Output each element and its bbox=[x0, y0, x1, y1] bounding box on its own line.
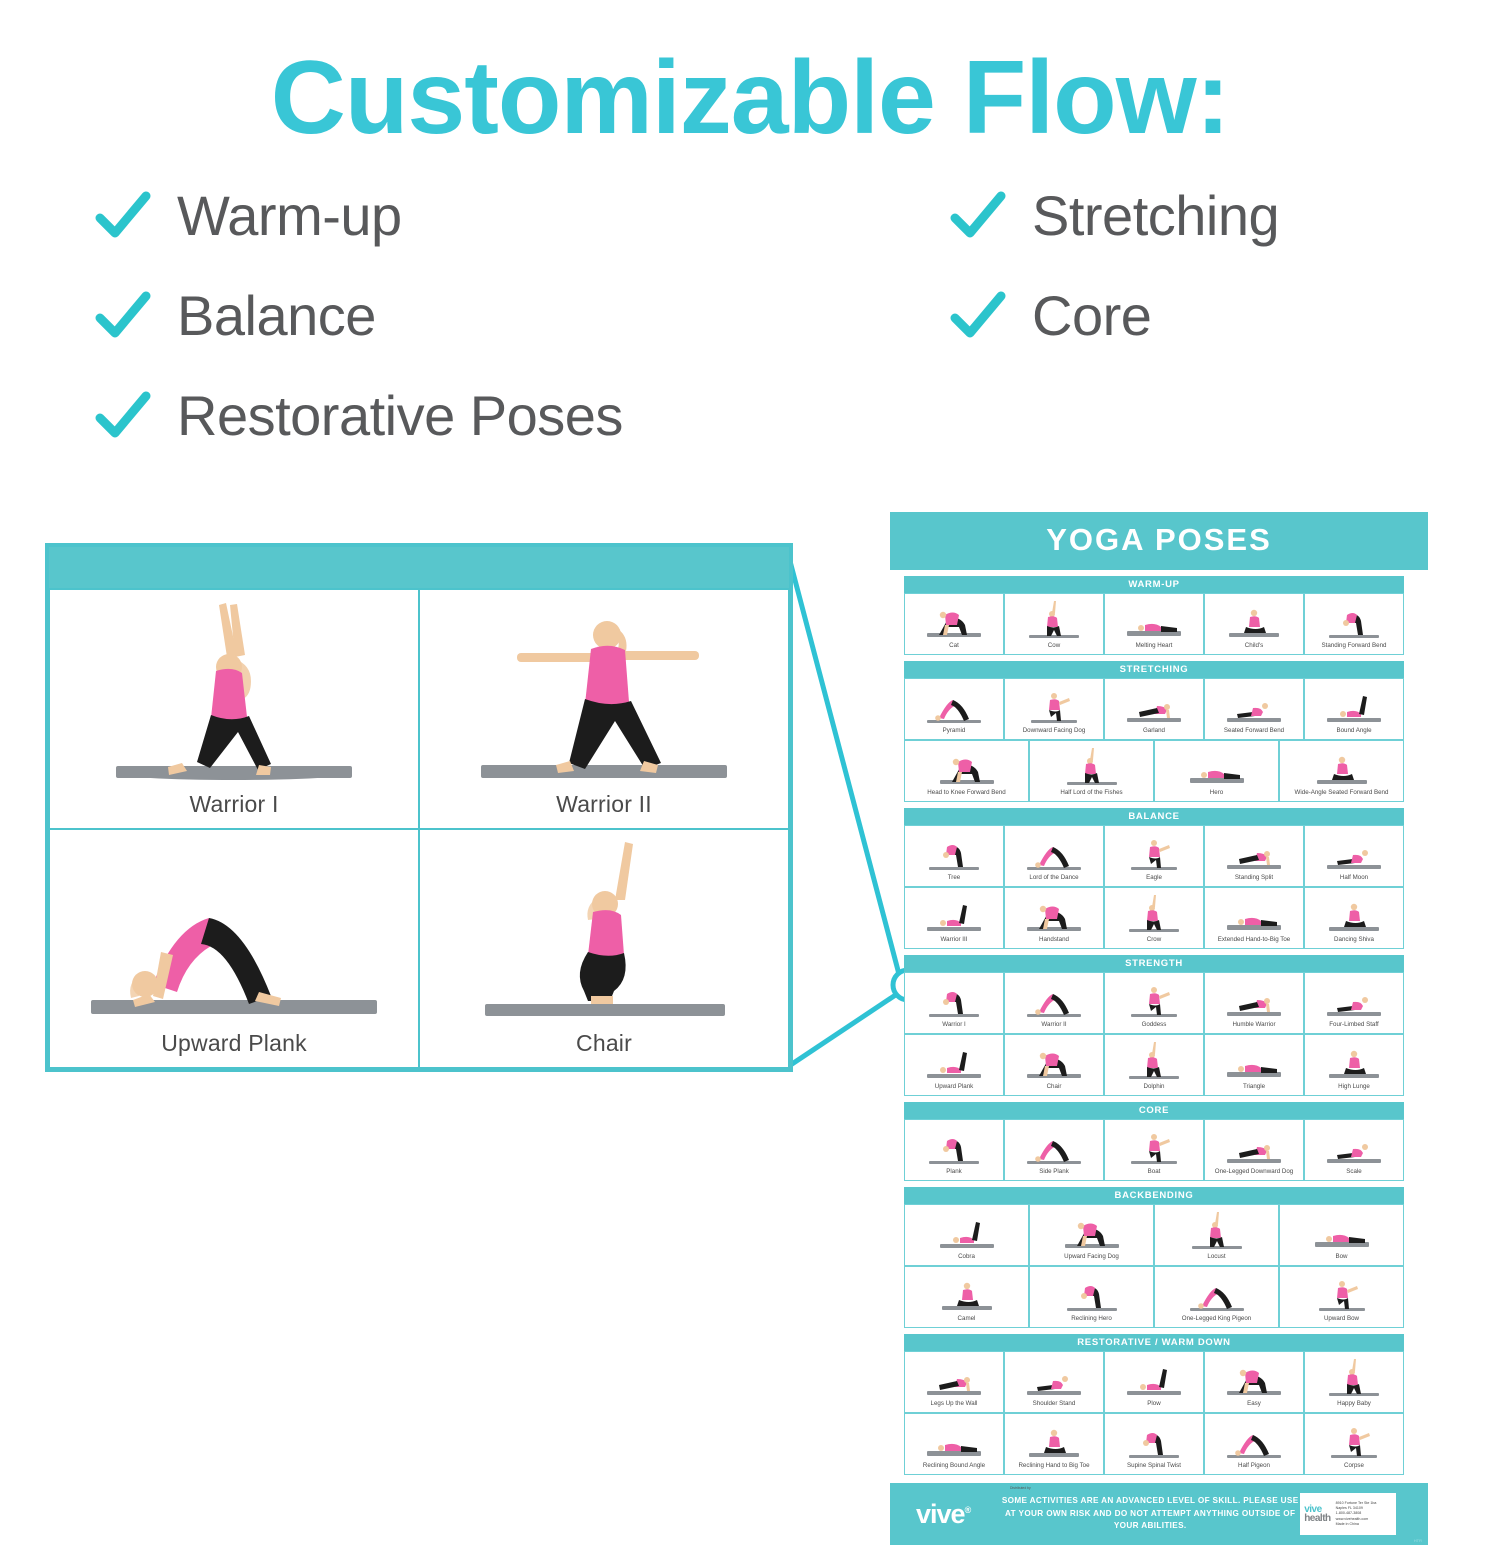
section-header: STRENGTH bbox=[904, 955, 1404, 972]
section-header: BALANCE bbox=[904, 808, 1404, 825]
pose-cell[interactable]: Half Moon bbox=[1304, 825, 1404, 887]
pose-cell[interactable]: Child's bbox=[1204, 593, 1304, 655]
pose-name: Side Plank bbox=[1038, 1168, 1070, 1178]
pose-cell[interactable]: High Lunge bbox=[1304, 1034, 1404, 1096]
pose-row: CatCowMelting HeartChild'sStanding Forwa… bbox=[904, 593, 1404, 655]
pose-cell[interactable]: Plow bbox=[1104, 1351, 1204, 1413]
pose-name: Eagle bbox=[1145, 874, 1163, 884]
feature-list-right: Stretching Core bbox=[950, 185, 1470, 385]
pose-cell[interactable]: Shoulder Stand bbox=[1004, 1351, 1104, 1413]
registered-mark: ® bbox=[965, 1505, 971, 1515]
pose-cell[interactable]: Scale bbox=[1304, 1119, 1404, 1181]
pose-cell[interactable]: Pyramid bbox=[904, 678, 1004, 740]
pose-thumbnail bbox=[905, 679, 1003, 727]
poster-footer: vive® SOME ACTIVITIES ARE AN ADVANCED LE… bbox=[890, 1483, 1428, 1545]
pose-cell[interactable]: Garland bbox=[1104, 678, 1204, 740]
pose-cell[interactable]: Humble Warrior bbox=[1204, 972, 1304, 1034]
footer-code: HTR bbox=[1414, 1538, 1422, 1543]
poster-section: WARM-UPCatCowMelting HeartChild'sStandin… bbox=[890, 576, 1428, 655]
pose-thumbnail bbox=[1005, 1352, 1103, 1400]
pose-cell[interactable]: Cobra bbox=[904, 1204, 1029, 1266]
pose-name: Upward Bow bbox=[1323, 1315, 1360, 1325]
pose-cell[interactable]: Upward Facing Dog bbox=[1029, 1204, 1154, 1266]
page-title: Customizable Flow: bbox=[0, 44, 1500, 153]
section-header: CORE bbox=[904, 1102, 1404, 1119]
pose-thumbnail bbox=[1305, 1035, 1403, 1083]
pose-thumbnail bbox=[1105, 973, 1203, 1021]
callout-pose-warrior-1[interactable]: Warrior I bbox=[48, 588, 420, 830]
pose-figure-warrior-ii bbox=[420, 590, 788, 785]
pose-cell[interactable]: Cow bbox=[1004, 593, 1104, 655]
pose-thumbnail bbox=[1105, 1120, 1203, 1168]
section-rows: CobraUpward Facing DogLocustBowCamelRecl… bbox=[904, 1204, 1404, 1328]
pose-row: TreeLord of the DanceEagleStanding Split… bbox=[904, 825, 1404, 887]
pose-row: Reclining Bound AngleReclining Hand to B… bbox=[904, 1413, 1404, 1475]
pose-thumbnail bbox=[1005, 1414, 1103, 1462]
pose-cell[interactable]: Warrior II bbox=[1004, 972, 1104, 1034]
pose-name: One-Legged King Pigeon bbox=[1181, 1315, 1253, 1325]
pose-thumbnail bbox=[905, 1035, 1003, 1083]
pose-cell[interactable]: Lord of the Dance bbox=[1004, 825, 1104, 887]
feature-item-balance: Balance bbox=[95, 285, 895, 347]
pose-thumbnail bbox=[1305, 1352, 1403, 1400]
pose-row: Warrior IWarrior IIGoddessHumble Warrior… bbox=[904, 972, 1404, 1034]
check-icon bbox=[950, 288, 1006, 344]
pose-thumbnail bbox=[905, 1120, 1003, 1168]
section-header: STRETCHING bbox=[904, 661, 1404, 678]
label-brand-line2: health bbox=[1304, 1514, 1330, 1524]
pose-cell[interactable]: Reclining Hand to Big Toe bbox=[1004, 1413, 1104, 1475]
pose-cell[interactable]: Upward Bow bbox=[1279, 1266, 1404, 1328]
pose-cell[interactable]: Plank bbox=[904, 1119, 1004, 1181]
pose-cell[interactable]: Upward Plank bbox=[904, 1034, 1004, 1096]
pose-name: Crow bbox=[1146, 936, 1162, 946]
pose-name: Plank bbox=[945, 1168, 962, 1178]
poster-section: BALANCETreeLord of the DanceEagleStandin… bbox=[890, 808, 1428, 949]
pose-thumbnail bbox=[1105, 826, 1203, 874]
vive-health-logo: vive health bbox=[1304, 1505, 1330, 1524]
pose-name: Upward Facing Dog bbox=[1063, 1253, 1120, 1263]
pose-thumbnail bbox=[1005, 679, 1103, 727]
pose-thumbnail bbox=[1205, 1120, 1303, 1168]
pose-cell[interactable]: Tree bbox=[904, 825, 1004, 887]
pose-name: Warrior I bbox=[189, 791, 278, 818]
pose-thumbnail bbox=[1105, 594, 1203, 642]
pose-thumbnail bbox=[1305, 1120, 1403, 1168]
pose-thumbnail bbox=[1005, 594, 1103, 642]
poster-title: YOGA POSES bbox=[890, 512, 1428, 570]
pose-thumbnail bbox=[905, 1352, 1003, 1400]
pose-name: Upward Plank bbox=[934, 1083, 975, 1093]
pose-name: Four-Limbed Staff bbox=[1328, 1021, 1379, 1031]
pose-name: Half Moon bbox=[1339, 874, 1369, 884]
pose-cell[interactable]: Extended Hand-to-Big Toe bbox=[1204, 887, 1304, 949]
check-icon bbox=[950, 188, 1006, 244]
pose-cell[interactable]: Head to Knee Forward Bend bbox=[904, 740, 1029, 802]
pose-thumbnail bbox=[1155, 1267, 1278, 1315]
pose-cell[interactable]: Goddess bbox=[1104, 972, 1204, 1034]
pose-name: Tree bbox=[947, 874, 962, 884]
callout-pose-upward-plank[interactable]: Upward Plank bbox=[48, 828, 420, 1070]
yoga-poses-poster: YOGA POSES WARM-UPCatCowMelting HeartChi… bbox=[890, 512, 1428, 1545]
vive-wordmark: vive bbox=[916, 1499, 965, 1529]
poster-section: BACKBENDINGCobraUpward Facing DogLocustB… bbox=[890, 1187, 1428, 1328]
pose-cell[interactable]: Warrior I bbox=[904, 972, 1004, 1034]
pose-name: Warrior II bbox=[1040, 1021, 1067, 1031]
pose-row: PyramidDownward Facing DogGarlandSeated … bbox=[904, 678, 1404, 740]
pose-thumbnail bbox=[1305, 679, 1403, 727]
pose-thumbnail bbox=[905, 1414, 1003, 1462]
pose-name: Warrior III bbox=[940, 936, 969, 946]
pose-name: Legs Up the Wall bbox=[930, 1400, 979, 1410]
pose-name: Head to Knee Forward Bend bbox=[926, 789, 1006, 799]
pose-cell[interactable]: Half Lord of the Fishes bbox=[1029, 740, 1154, 802]
pose-name: Half Pigeon bbox=[1237, 1462, 1271, 1472]
section-rows: Legs Up the WallShoulder StandPlowEasyHa… bbox=[904, 1351, 1404, 1475]
pose-name: Scale bbox=[1345, 1168, 1362, 1178]
footer-disclaimer: SOME ACTIVITIES ARE AN ADVANCED LEVEL OF… bbox=[1000, 1495, 1300, 1533]
pose-thumbnail bbox=[1155, 741, 1278, 789]
pose-thumbnail bbox=[1205, 888, 1303, 936]
pose-name: Child's bbox=[1244, 642, 1264, 652]
pose-name: Supine Spinal Twist bbox=[1126, 1462, 1182, 1472]
pose-cell[interactable]: Triangle bbox=[1204, 1034, 1304, 1096]
check-icon bbox=[95, 188, 151, 244]
feature-label: Warm-up bbox=[177, 188, 402, 244]
pose-thumbnail bbox=[1305, 826, 1403, 874]
pose-thumbnail bbox=[905, 594, 1003, 642]
section-rows: PyramidDownward Facing DogGarlandSeated … bbox=[904, 678, 1404, 802]
pose-name: Corpse bbox=[1343, 1462, 1365, 1472]
poster-section: STRETCHINGPyramidDownward Facing DogGarl… bbox=[890, 661, 1428, 802]
pose-cell[interactable]: Wide-Angle Seated Forward Bend bbox=[1279, 740, 1404, 802]
pose-name: Bound Angle bbox=[1335, 727, 1372, 737]
pose-cell[interactable]: Half Pigeon bbox=[1204, 1413, 1304, 1475]
pose-cell[interactable]: Side Plank bbox=[1004, 1119, 1104, 1181]
pose-thumbnail bbox=[1305, 973, 1403, 1021]
pose-cell[interactable]: Melting Heart bbox=[1104, 593, 1204, 655]
pose-thumbnail bbox=[905, 741, 1028, 789]
pose-name: Hero bbox=[1209, 789, 1224, 799]
pose-name: Pyramid bbox=[942, 727, 967, 737]
pose-name: Handstand bbox=[1038, 936, 1070, 946]
feature-item-restorative-poses: Restorative Poses bbox=[95, 385, 895, 447]
label-address-line: Made in China bbox=[1336, 1522, 1393, 1527]
pose-name: Downward Facing Dog bbox=[1022, 727, 1087, 737]
pose-name: Humble Warrior bbox=[1231, 1021, 1276, 1031]
pose-cell[interactable]: One-Legged King Pigeon bbox=[1154, 1266, 1279, 1328]
feature-item-core: Core bbox=[950, 285, 1470, 347]
pose-thumbnail bbox=[1305, 594, 1403, 642]
feature-label: Stretching bbox=[1032, 188, 1279, 244]
pose-thumbnail bbox=[1005, 1120, 1103, 1168]
pose-thumbnail bbox=[1030, 1205, 1153, 1253]
pose-name: Locust bbox=[1206, 1253, 1226, 1263]
section-rows: CatCowMelting HeartChild'sStanding Forwa… bbox=[904, 593, 1404, 655]
pose-row: Warrior IIIHandstandCrowExtended Hand-to… bbox=[904, 887, 1404, 949]
pose-cell[interactable]: Locust bbox=[1154, 1204, 1279, 1266]
pose-name: High Lunge bbox=[1337, 1083, 1371, 1093]
pose-thumbnail bbox=[1280, 741, 1403, 789]
pose-row: PlankSide PlankBoatOne-Legged Downward D… bbox=[904, 1119, 1404, 1181]
pose-cell[interactable]: Dancing Shiva bbox=[1304, 887, 1404, 949]
poster-section: RESTORATIVE / WARM DOWNLegs Up the WallS… bbox=[890, 1334, 1428, 1475]
pose-cell[interactable]: Bound Angle bbox=[1304, 678, 1404, 740]
section-header: BACKBENDING bbox=[904, 1187, 1404, 1204]
pose-name: Camel bbox=[957, 1315, 977, 1325]
pose-row: Upward PlankChairDolphinTriangleHigh Lun… bbox=[904, 1034, 1404, 1096]
pose-name: Plow bbox=[1146, 1400, 1161, 1410]
callout-pose-warrior-2[interactable]: Warrior II bbox=[418, 588, 790, 830]
pose-cell[interactable]: Corpse bbox=[1304, 1413, 1404, 1475]
label-address-block: 8910 Fortune Ter Ste 1baNaples FL 341091… bbox=[1336, 1501, 1393, 1528]
pose-thumbnail bbox=[1280, 1267, 1403, 1315]
distributed-by-text: Distributed by bbox=[1010, 1486, 1031, 1490]
feature-list-left: Warm-up Balance Restorative Poses bbox=[95, 185, 895, 485]
pose-thumbnail bbox=[1105, 1035, 1203, 1083]
pose-cell[interactable]: Chair bbox=[1004, 1034, 1104, 1096]
section-rows: Warrior IWarrior IIGoddessHumble Warrior… bbox=[904, 972, 1404, 1096]
pose-name: Half Lord of the Fishes bbox=[1059, 789, 1123, 799]
pose-cell[interactable]: Boat bbox=[1104, 1119, 1204, 1181]
pose-name: Lord of the Dance bbox=[1028, 874, 1079, 884]
pose-thumbnail bbox=[1005, 1035, 1103, 1083]
pose-row: CobraUpward Facing DogLocustBow bbox=[904, 1204, 1404, 1266]
pose-name: Reclining Hero bbox=[1070, 1315, 1113, 1325]
pose-thumbnail bbox=[1155, 1205, 1278, 1253]
pose-thumbnail bbox=[1205, 594, 1303, 642]
pose-name: Chair bbox=[576, 1030, 632, 1057]
poster-section: COREPlankSide PlankBoatOne-Legged Downwa… bbox=[890, 1102, 1428, 1181]
pose-thumbnail bbox=[1030, 1267, 1153, 1315]
pose-cell[interactable]: One-Legged Downward Dog bbox=[1204, 1119, 1304, 1181]
poster-sections: WARM-UPCatCowMelting HeartChild'sStandin… bbox=[890, 576, 1428, 1475]
pose-cell[interactable]: Seated Forward Bend bbox=[1204, 678, 1304, 740]
pose-cell[interactable]: Warrior III bbox=[904, 887, 1004, 949]
pose-cell[interactable]: Dolphin bbox=[1104, 1034, 1204, 1096]
pose-name: Dancing Shiva bbox=[1333, 936, 1375, 946]
pose-name: Melting Heart bbox=[1135, 642, 1174, 652]
vive-logo: vive® bbox=[916, 1499, 970, 1530]
pose-cell[interactable]: Reclining Hero bbox=[1029, 1266, 1154, 1328]
pose-name: Chair bbox=[1046, 1083, 1063, 1093]
pose-cell[interactable]: Downward Facing Dog bbox=[1004, 678, 1104, 740]
pose-name: Easy bbox=[1246, 1400, 1262, 1410]
callout-pose-grid: Warrior I bbox=[49, 589, 789, 1068]
pose-name: Seated Forward Bend bbox=[1223, 727, 1285, 737]
feature-item-warm-up: Warm-up bbox=[95, 185, 895, 247]
poster-section: STRENGTHWarrior IWarrior IIGoddessHumble… bbox=[890, 955, 1428, 1096]
pose-row: Legs Up the WallShoulder StandPlowEasyHa… bbox=[904, 1351, 1404, 1413]
callout-pose-chair[interactable]: Chair bbox=[418, 828, 790, 1070]
pose-thumbnail bbox=[1305, 888, 1403, 936]
pose-thumbnail bbox=[905, 888, 1003, 936]
zoom-callout-box: Warrior I bbox=[45, 543, 793, 1072]
pose-thumbnail bbox=[1105, 1414, 1203, 1462]
pose-name: Cat bbox=[948, 642, 960, 652]
pose-name: Happy Baby bbox=[1336, 1400, 1372, 1410]
pose-name: Reclining Bound Angle bbox=[922, 1462, 986, 1472]
feature-item-stretching: Stretching bbox=[950, 185, 1470, 247]
label-brand-line1: vive bbox=[1304, 1505, 1330, 1515]
check-icon bbox=[95, 388, 151, 444]
pose-cell[interactable]: Legs Up the Wall bbox=[904, 1351, 1004, 1413]
pose-row: Head to Knee Forward BendHalf Lord of th… bbox=[904, 740, 1404, 802]
pose-cell[interactable]: Handstand bbox=[1004, 887, 1104, 949]
pose-cell[interactable]: Reclining Bound Angle bbox=[904, 1413, 1004, 1475]
pose-thumbnail bbox=[1105, 1352, 1203, 1400]
callout-top-bar bbox=[49, 547, 789, 589]
pose-thumbnail bbox=[1005, 888, 1103, 936]
pose-thumbnail bbox=[905, 1205, 1028, 1253]
pose-name: Standing Forward Bend bbox=[1320, 642, 1387, 652]
pose-cell[interactable]: Standing Forward Bend bbox=[1304, 593, 1404, 655]
pose-name: Extended Hand-to-Big Toe bbox=[1217, 936, 1291, 946]
pose-cell[interactable]: Eagle bbox=[1104, 825, 1204, 887]
pose-cell[interactable]: Four-Limbed Staff bbox=[1304, 972, 1404, 1034]
pose-thumbnail bbox=[905, 1267, 1028, 1315]
feature-label: Balance bbox=[177, 288, 376, 344]
pose-cell[interactable]: Supine Spinal Twist bbox=[1104, 1413, 1204, 1475]
pose-cell[interactable]: Cat bbox=[904, 593, 1004, 655]
pose-name: Reclining Hand to Big Toe bbox=[1017, 1462, 1090, 1472]
pose-cell[interactable]: Camel bbox=[904, 1266, 1029, 1328]
pose-cell[interactable]: Bow bbox=[1279, 1204, 1404, 1266]
pose-name: Shoulder Stand bbox=[1032, 1400, 1077, 1410]
pose-name: Triangle bbox=[1242, 1083, 1266, 1093]
pose-thumbnail bbox=[905, 826, 1003, 874]
pose-name: Warrior I bbox=[941, 1021, 967, 1031]
pose-name: Wide-Angle Seated Forward Bend bbox=[1294, 789, 1390, 799]
pose-cell[interactable]: Standing Split bbox=[1204, 825, 1304, 887]
pose-name: Bow bbox=[1334, 1253, 1348, 1263]
pose-name: Goddess bbox=[1141, 1021, 1168, 1031]
pose-figure-warrior-i bbox=[50, 590, 418, 785]
pose-name: Standing Split bbox=[1234, 874, 1274, 884]
pose-thumbnail bbox=[1205, 1414, 1303, 1462]
pose-thumbnail bbox=[1005, 973, 1103, 1021]
section-rows: TreeLord of the DanceEagleStanding Split… bbox=[904, 825, 1404, 949]
check-icon bbox=[95, 288, 151, 344]
feature-label: Core bbox=[1032, 288, 1151, 344]
pose-row: CamelReclining HeroOne-Legged King Pigeo… bbox=[904, 1266, 1404, 1328]
pose-thumbnail bbox=[1005, 826, 1103, 874]
pose-thumbnail bbox=[1280, 1205, 1403, 1253]
pose-thumbnail bbox=[1205, 826, 1303, 874]
pose-figure-chair bbox=[420, 830, 788, 1025]
pose-name: Cow bbox=[1047, 642, 1061, 652]
pose-thumbnail bbox=[1205, 973, 1303, 1021]
pose-thumbnail bbox=[1105, 888, 1203, 936]
pose-thumbnail bbox=[1205, 1035, 1303, 1083]
section-rows: PlankSide PlankBoatOne-Legged Downward D… bbox=[904, 1119, 1404, 1181]
pose-cell[interactable]: Crow bbox=[1104, 887, 1204, 949]
pose-name: Warrior II bbox=[556, 791, 652, 818]
pose-figure-upward-plank bbox=[50, 830, 418, 1025]
pose-name: Boat bbox=[1147, 1168, 1162, 1178]
pose-thumbnail bbox=[1030, 741, 1153, 789]
pose-thumbnail bbox=[1205, 679, 1303, 727]
pose-name: Garland bbox=[1142, 727, 1166, 737]
pose-name: Upward Plank bbox=[161, 1030, 307, 1057]
pose-cell[interactable]: Hero bbox=[1154, 740, 1279, 802]
section-header: WARM-UP bbox=[904, 576, 1404, 593]
pose-name: Dolphin bbox=[1143, 1083, 1166, 1093]
feature-label: Restorative Poses bbox=[177, 388, 623, 444]
pose-thumbnail bbox=[1305, 1414, 1403, 1462]
pose-thumbnail bbox=[1105, 679, 1203, 727]
section-header: RESTORATIVE / WARM DOWN bbox=[904, 1334, 1404, 1351]
pose-name: One-Legged Downward Dog bbox=[1214, 1168, 1294, 1178]
pose-thumbnail bbox=[1205, 1352, 1303, 1400]
pose-name: Cobra bbox=[957, 1253, 976, 1263]
product-label: vive health 8910 Fortune Ter Ste 1baNapl… bbox=[1300, 1493, 1396, 1535]
pose-thumbnail bbox=[905, 973, 1003, 1021]
pose-cell[interactable]: Easy bbox=[1204, 1351, 1304, 1413]
pose-cell[interactable]: Happy Baby bbox=[1304, 1351, 1404, 1413]
